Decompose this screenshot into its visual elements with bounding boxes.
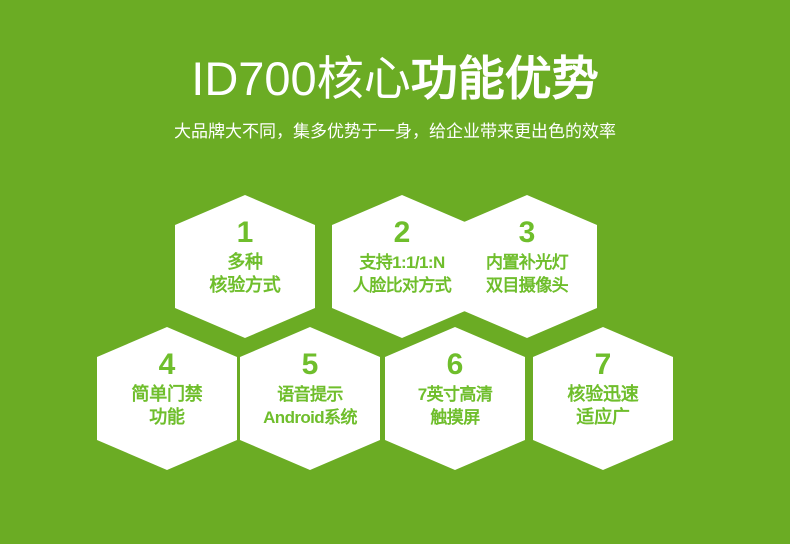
feature-label: 语音提示 Android系统 (263, 383, 357, 429)
feature-label: 7英寸高清 触摸屏 (418, 383, 492, 429)
feature-hexagon-5[interactable]: 5 语音提示 Android系统 (240, 327, 380, 470)
feature-label: 简单门禁 功能 (131, 383, 202, 429)
feature-label: 内置补光灯 双目摄像头 (486, 251, 568, 297)
feature-hexagon-2[interactable]: 2 支持1:1/1:N 人脸比对方式 (332, 195, 472, 338)
feature-label-line: 适应广 (576, 406, 629, 429)
feature-hex-grid: 1 多种 核验方式 2 支持1:1/1:N 人脸比对方式 3 内置补光灯 双目摄… (0, 0, 790, 544)
feature-label: 多种 核验方式 (209, 251, 280, 297)
feature-label-line: 双目摄像头 (486, 274, 568, 297)
feature-label-line: 语音提示 (277, 383, 343, 406)
feature-number: 4 (159, 349, 176, 381)
feature-label-line: 核验迅速 (567, 383, 638, 406)
feature-hexagon-6[interactable]: 6 7英寸高清 触摸屏 (385, 327, 525, 470)
feature-hexagon-7[interactable]: 7 核验迅速 适应广 (533, 327, 673, 470)
feature-label-line: 功能 (149, 406, 185, 429)
feature-label-line: 多种 (227, 251, 263, 274)
feature-hexagon-4[interactable]: 4 简单门禁 功能 (97, 327, 237, 470)
feature-number: 2 (394, 217, 411, 249)
feature-number: 6 (447, 349, 464, 381)
feature-label-line: 7英寸高清 (418, 383, 492, 406)
feature-label-line: 内置补光灯 (486, 251, 568, 274)
feature-label-line: 触摸屏 (430, 406, 479, 429)
feature-label-line: Android系统 (263, 406, 357, 429)
promo-banner: ID700核心功能优势 大品牌大不同，集多优势于一身，给企业带来更出色的效率 1… (0, 0, 790, 544)
feature-label-line: 简单门禁 (131, 383, 202, 406)
feature-label-line: 核验方式 (209, 274, 280, 297)
feature-number: 1 (237, 217, 254, 249)
feature-number: 3 (519, 217, 536, 249)
feature-label: 支持1:1/1:N 人脸比对方式 (353, 251, 451, 297)
feature-hexagon-1[interactable]: 1 多种 核验方式 (175, 195, 315, 338)
feature-label: 核验迅速 适应广 (567, 383, 638, 429)
feature-label-line: 人脸比对方式 (353, 274, 451, 297)
feature-number: 5 (302, 349, 319, 381)
feature-number: 7 (595, 349, 612, 381)
feature-hexagon-3[interactable]: 3 内置补光灯 双目摄像头 (457, 195, 597, 338)
feature-label-line: 支持1:1/1:N (359, 251, 444, 274)
